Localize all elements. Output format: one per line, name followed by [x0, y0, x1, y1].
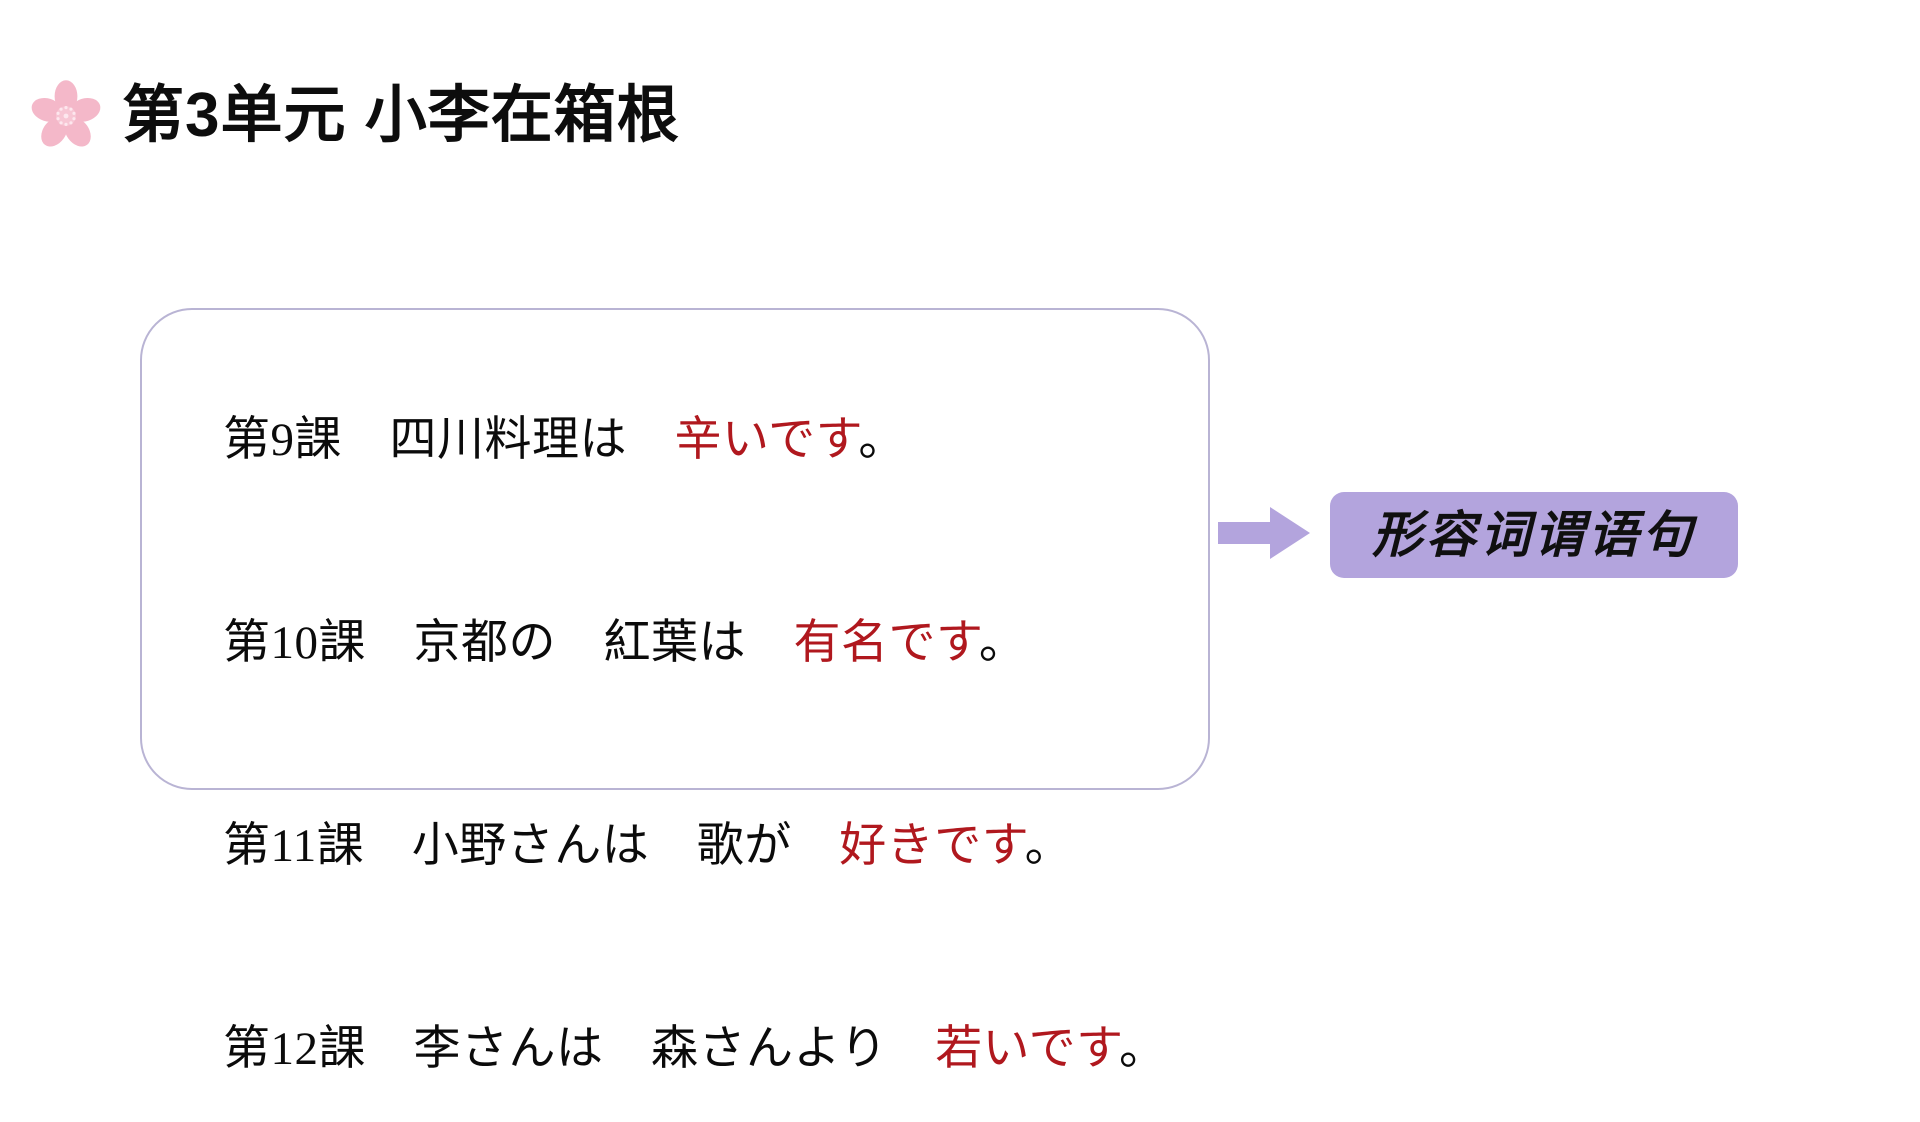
sentence-black-text: 第11課 小野さんは 歌が — [223, 820, 839, 872]
page-title: 第3单元 小李在箱根 — [122, 85, 680, 147]
grammar-point-label: 形容词谓语句 — [1372, 510, 1696, 560]
sentence-black-text: 第12課 李さんは 森さんより — [223, 1023, 935, 1075]
sentence-black-text: 第10課 京都の 紅葉は — [223, 617, 794, 669]
right-arrow-icon — [1218, 505, 1310, 561]
slide-title-row: 第3单元 小李在箱根 — [28, 78, 680, 154]
lesson-sentence-list: 第9課 四川料理は 辛いです。 第10課 京都の 紅葉は 有名です。 第11課 … — [140, 308, 1210, 790]
sentence-punctuation: 。 — [1119, 1023, 1167, 1075]
sentence-red-text: 好きです — [839, 820, 1024, 872]
sentence-punctuation: 。 — [1025, 820, 1073, 872]
sentence-red-text: 有名です — [794, 617, 979, 669]
sentence-punctuation: 。 — [858, 414, 906, 466]
sentence-row-lesson-10: 第10課 京都の 紅葉は 有名です。 — [142, 573, 1208, 714]
grammar-point-badge: 形容词谓语句 — [1330, 492, 1738, 578]
sentence-red-text: 若いです — [935, 1023, 1119, 1075]
sentence-black-text: 第9課 四川料理は — [223, 414, 675, 466]
sakura-flower-icon — [28, 78, 104, 154]
sentence-row-lesson-9: 第9課 四川料理は 辛いです。 — [142, 370, 1208, 511]
sentence-row-lesson-12: 第12課 李さんは 森さんより 若いです。 — [142, 979, 1208, 1120]
sentence-red-text: 辛いです — [675, 414, 859, 466]
sentence-row-lesson-11: 第11課 小野さんは 歌が 好きです。 — [142, 776, 1208, 917]
sentence-punctuation: 。 — [979, 617, 1027, 669]
